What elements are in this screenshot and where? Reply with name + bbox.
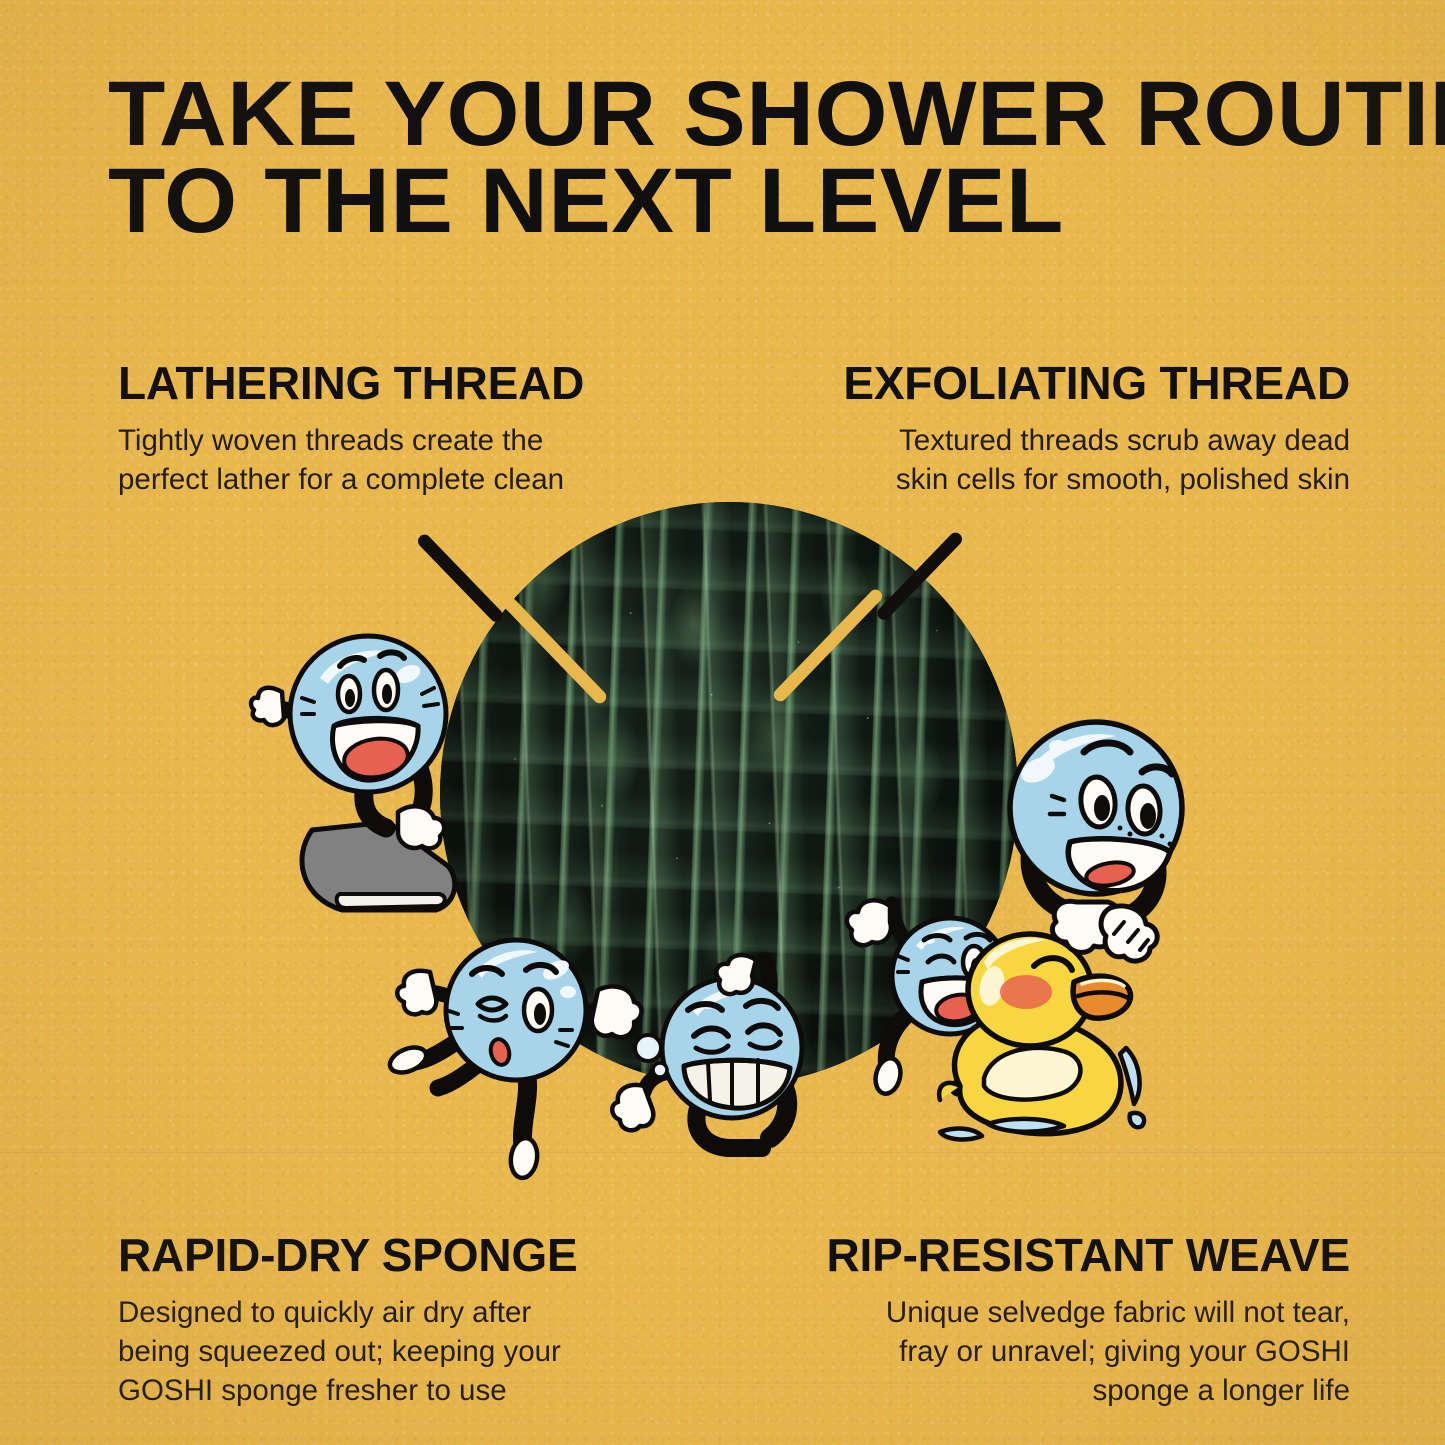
pointer-segment-inner — [495, 589, 609, 706]
infographic-canvas: TAKE YOUR SHOWER ROUTINE TO THE NEXT LEV… — [0, 0, 1445, 1445]
glove-right — [398, 806, 444, 848]
duck-blush — [1000, 975, 1052, 1009]
feature-body-line: GOSHI sponge fresher to use — [118, 1374, 507, 1407]
feature-rip-resistant-weave: RIP-RESISTANT WEAVE Unique selvedge fabr… — [750, 1232, 1350, 1411]
feature-title-rip-resistant-weave: RIP-RESISTANT WEAVE — [750, 1232, 1350, 1278]
feature-title-exfoliating-thread: EXFOLIATING THREAD — [780, 360, 1350, 406]
headline-line-1: TAKE YOUR SHOWER ROUTINE — [108, 72, 1373, 157]
feature-body-line: Textured threads scrub away dead — [899, 424, 1350, 457]
feature-title-lathering-thread: LATHERING THREAD — [118, 360, 678, 406]
pointer-segment-outer — [875, 530, 965, 622]
feature-body-line: Tightly woven threads create the — [118, 424, 543, 457]
feature-body-exfoliating-thread: Textured threads scrub away dead skin ce… — [780, 421, 1350, 499]
bubble-mascot-peeking — [992, 716, 1232, 966]
feature-rapid-dry-sponge: RAPID-DRY SPONGE Designed to quickly air… — [118, 1232, 678, 1411]
headline-line-2: TO THE NEXT LEVEL — [108, 159, 1373, 244]
feature-body-line: sponge a longer life — [1093, 1374, 1351, 1407]
feature-body-line: fray or unravel; giving your GOSHI — [899, 1335, 1350, 1368]
glove-left — [397, 971, 436, 1015]
glove-left — [251, 688, 284, 725]
page-title: TAKE YOUR SHOWER ROUTINE TO THE NEXT LEV… — [108, 72, 1348, 243]
feature-body-rip-resistant-weave: Unique selvedge fabric will not tear, fr… — [750, 1293, 1350, 1411]
feature-body-line: Designed to quickly air dry after — [118, 1296, 531, 1329]
feature-body-lathering-thread: Tightly woven threads create the perfect… — [118, 421, 678, 499]
bubble-mascot-waving-on-board — [248, 622, 478, 922]
glove-raised — [847, 900, 891, 945]
feature-body-line: being squeezed out; keeping your — [118, 1335, 561, 1368]
bubble-mascot-winking — [392, 918, 642, 1178]
glove-raised — [716, 955, 756, 994]
surfboard-stripe — [337, 894, 445, 908]
feature-body-line: Unique selvedge fabric will not tear, — [886, 1296, 1350, 1329]
glove-left — [612, 1085, 653, 1130]
feature-body-line: skin cells for smooth, polished skin — [896, 463, 1350, 496]
feature-body-line: perfect lather for a complete clean — [118, 463, 564, 496]
feature-body-rapid-dry-sponge: Designed to quickly air dry after being … — [118, 1293, 678, 1411]
bubble-mascot-grinning — [612, 952, 862, 1182]
feature-lathering-thread: LATHERING THREAD Tightly woven threads c… — [118, 360, 678, 499]
pointer-segment-outer — [415, 532, 505, 624]
feature-exfoliating-thread: EXFOLIATING THREAD Textured threads scru… — [780, 360, 1350, 499]
feature-title-rapid-dry-sponge: RAPID-DRY SPONGE — [118, 1232, 678, 1278]
